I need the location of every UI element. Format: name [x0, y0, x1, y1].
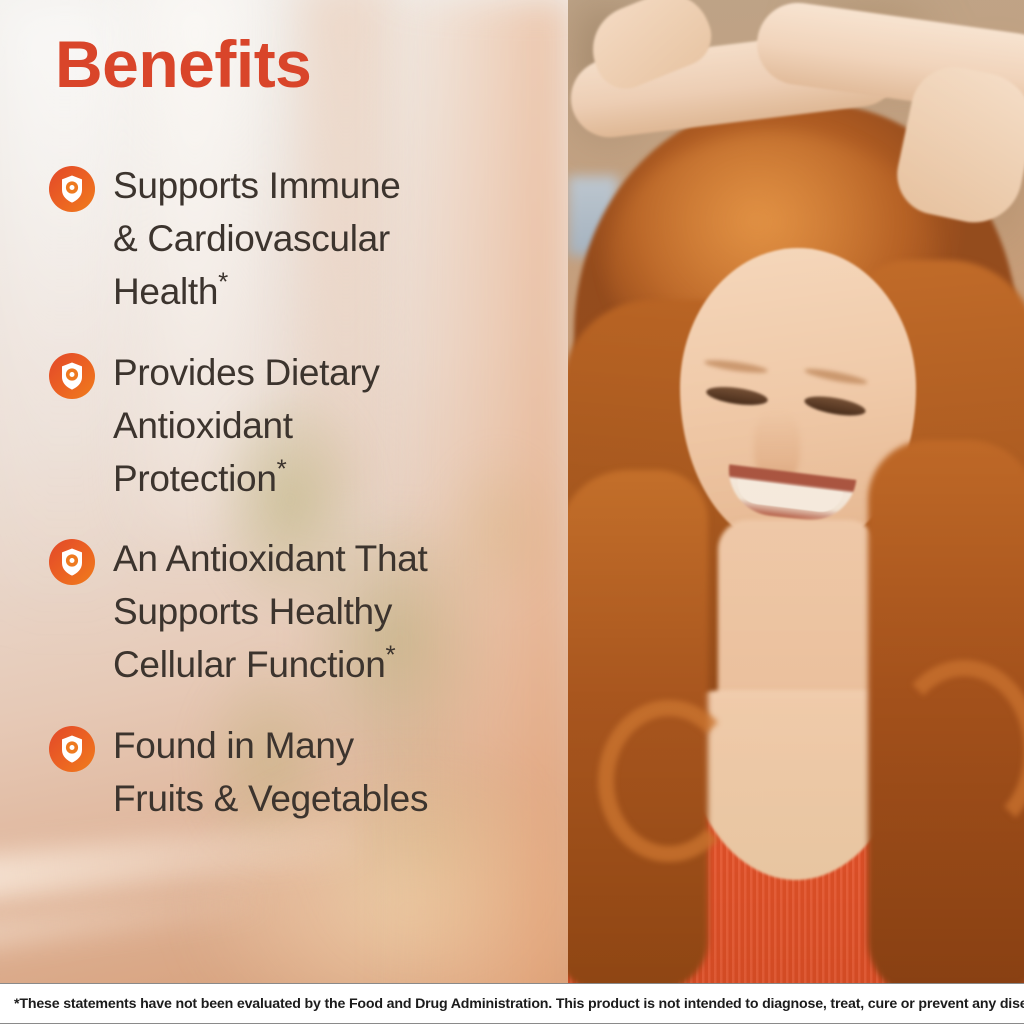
benefit-item: Found in Many Fruits & Vegetables	[49, 720, 549, 826]
benefit-item: Provides Dietary Antioxidant Protection*	[49, 347, 549, 506]
benefits-infographic: Benefits	[0, 0, 1024, 1024]
benefit-line: Provides Dietary	[113, 352, 380, 393]
benefit-text: Found in Many Fruits & Vegetables	[113, 720, 428, 826]
page-title: Benefits	[55, 31, 311, 97]
benefit-line: Supports Immune	[113, 165, 401, 206]
benefit-item: An Antioxidant That Supports Healthy Cel…	[49, 533, 549, 692]
benefit-text: Provides Dietary Antioxidant Protection*	[113, 347, 380, 506]
benefit-line: Fruits & Vegetables	[113, 778, 428, 819]
shield-ring-icon	[49, 539, 95, 585]
content-column: Benefits	[0, 0, 568, 983]
benefit-text: Supports Immune & Cardiovascular Health*	[113, 160, 401, 319]
benefit-line: An Antioxidant That	[113, 538, 428, 579]
photo-hair-curl-left	[598, 700, 740, 862]
asterisk-mark: *	[386, 640, 396, 670]
disclaimer-bar: *These statements have not been evaluate…	[0, 983, 1024, 1024]
asterisk-mark: *	[277, 453, 287, 483]
benefit-text: An Antioxidant That Supports Healthy Cel…	[113, 533, 428, 692]
benefit-line: Antioxidant	[113, 405, 293, 446]
shield-ring-icon	[49, 353, 95, 399]
benefits-list: Supports Immune & Cardiovascular Health*	[49, 160, 549, 854]
benefit-line: Supports Healthy	[113, 591, 392, 632]
benefit-line: Cellular Function	[113, 644, 386, 685]
benefit-line: Protection	[113, 458, 277, 499]
shield-ring-icon	[49, 166, 95, 212]
benefit-item: Supports Immune & Cardiovascular Health*	[49, 160, 549, 319]
lifestyle-photo	[568, 0, 1024, 983]
benefit-line: & Cardiovascular	[113, 218, 390, 259]
shield-ring-icon	[49, 726, 95, 772]
benefit-line: Found in Many	[113, 725, 354, 766]
benefit-line: Health	[113, 271, 218, 312]
asterisk-mark: *	[218, 266, 228, 296]
disclaimer-text: *These statements have not been evaluate…	[0, 996, 1024, 1012]
